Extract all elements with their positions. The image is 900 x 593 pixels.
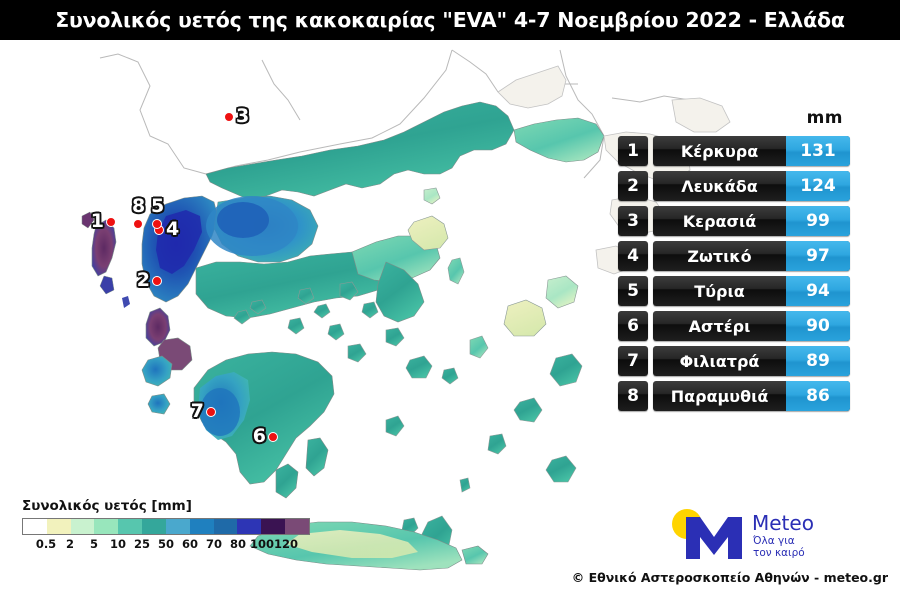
legend-tick: 60 <box>182 537 198 551</box>
title-bar: Συνολικός υετός της κακοκαιρίας "EVA" 4-… <box>0 0 900 40</box>
legend-swatch-1 <box>47 519 71 534</box>
rainfall-value: 94 <box>786 276 850 306</box>
rainfall-value: 90 <box>786 311 850 341</box>
legend-swatch-6 <box>166 519 190 534</box>
legend-swatch-7 <box>190 519 214 534</box>
rainfall-value: 86 <box>786 381 850 411</box>
rainfall-value: 99 <box>786 206 850 236</box>
meteo-m-letter-icon <box>684 515 744 559</box>
brand-name: Meteo <box>752 511 814 535</box>
ranking-row[interactable]: 1 Κέρκυρα 131 <box>618 136 850 166</box>
station-name: Τύρια <box>653 276 786 306</box>
station-marker-label: 1 <box>91 212 104 231</box>
greece-landmass <box>142 102 604 498</box>
ranking-rows: 1 Κέρκυρα 131 2 Λευκάδα 124 3 Κερασιά 99 <box>618 136 850 416</box>
station-dot-icon <box>152 276 162 286</box>
legend-swatch-5 <box>142 519 166 534</box>
legend-swatch-4 <box>118 519 142 534</box>
row-panel: Κέρκυρα 131 <box>653 136 850 166</box>
legend-tick: 5 <box>90 537 98 551</box>
ranking-row[interactable]: 2 Λευκάδα 124 <box>618 171 850 201</box>
legend-tick: 2 <box>66 537 74 551</box>
row-panel: Ζωτικό 97 <box>653 241 850 271</box>
station-dot-icon <box>106 217 116 227</box>
rank-badge: 6 <box>618 311 648 341</box>
rainfall-value: 89 <box>786 346 850 376</box>
station-dot-icon <box>206 407 216 417</box>
rainfall-value: 131 <box>786 136 850 166</box>
legend-swatch-3 <box>94 519 118 534</box>
colorbar-legend: Συνολικός υετός [mm] 0.52510255060708010… <box>22 498 312 553</box>
rainfall-value: 124 <box>786 171 850 201</box>
station-marker-label: 6 <box>253 427 266 446</box>
ranking-row[interactable]: 6 Αστέρι 90 <box>618 311 850 341</box>
station-name: Λευκάδα <box>653 171 786 201</box>
legend-tick: 100 <box>250 537 274 551</box>
row-panel: Αστέρι 90 <box>653 311 850 341</box>
station-dot-icon <box>152 219 162 229</box>
rank-badge: 4 <box>618 241 648 271</box>
station-marker-label: 5 <box>151 197 164 216</box>
legend-tick: 70 <box>206 537 222 551</box>
meteo-logo[interactable]: Meteo Όλα για τον καιρό <box>672 505 862 563</box>
ranking-row[interactable]: 4 Ζωτικό 97 <box>618 241 850 271</box>
legend-swatch-2 <box>71 519 95 534</box>
legend-swatch-11 <box>285 519 309 534</box>
tagline-line-1: Όλα για <box>753 535 805 547</box>
station-name: Κερασιά <box>653 206 786 236</box>
station-name: Παραμυθιά <box>653 381 786 411</box>
rank-badge: 3 <box>618 206 648 236</box>
brand-tagline: Όλα για τον καιρό <box>753 535 805 559</box>
station-marker-label: 2 <box>137 271 150 290</box>
row-panel: Κερασιά 99 <box>653 206 850 236</box>
ranking-row[interactable]: 3 Κερασιά 99 <box>618 206 850 236</box>
rank-badge: 8 <box>618 381 648 411</box>
legend-tick: 10 <box>110 537 126 551</box>
legend-colorbar <box>22 518 310 535</box>
ranking-row[interactable]: 5 Τύρια 94 <box>618 276 850 306</box>
rank-badge: 2 <box>618 171 648 201</box>
station-name: Ζωτικό <box>653 241 786 271</box>
legend-tick: 120 <box>274 537 298 551</box>
rainfall-value: 97 <box>786 241 850 271</box>
rank-badge: 7 <box>618 346 648 376</box>
legend-swatch-8 <box>214 519 238 534</box>
page-title: Συνολικός υετός της κακοκαιρίας "EVA" 4-… <box>0 0 900 40</box>
station-name: Φιλιατρά <box>653 346 786 376</box>
station-marker-label: 8 <box>132 197 145 216</box>
infographic-root: Συνολικός υετός της κακοκαιρίας "EVA" 4-… <box>0 0 900 593</box>
rank-badge: 5 <box>618 276 648 306</box>
row-panel: Φιλιατρά 89 <box>653 346 850 376</box>
tagline-line-2: τον καιρό <box>753 547 805 559</box>
legend-tick-labels: 0.525102550607080100120 <box>22 537 310 553</box>
station-dot-icon <box>133 219 143 229</box>
row-panel: Λευκάδα 124 <box>653 171 850 201</box>
legend-tick: 0.5 <box>36 537 56 551</box>
legend-swatch-10 <box>261 519 285 534</box>
rank-badge: 1 <box>618 136 648 166</box>
station-name: Αστέρι <box>653 311 786 341</box>
legend-tick: 80 <box>230 537 246 551</box>
station-name: Κέρκυρα <box>653 136 786 166</box>
legend-title: Συνολικός υετός [mm] <box>22 498 312 514</box>
row-panel: Τύρια 94 <box>653 276 850 306</box>
unit-header: mm <box>807 108 843 128</box>
copyright-notice: © Εθνικό Αστεροσκοπείο Αθηνών - meteo.gr <box>572 570 888 585</box>
legend-swatch-0 <box>23 519 47 534</box>
ranking-row[interactable]: 7 Φιλιατρά 89 <box>618 346 850 376</box>
station-dot-icon <box>224 112 234 122</box>
row-panel: Παραμυθιά 86 <box>653 381 850 411</box>
ranking-row[interactable]: 8 Παραμυθιά 86 <box>618 381 850 411</box>
legend-swatch-9 <box>237 519 261 534</box>
station-marker-label: 7 <box>191 402 204 421</box>
station-dot-icon <box>268 432 278 442</box>
legend-tick: 25 <box>134 537 150 551</box>
legend-tick: 50 <box>158 537 174 551</box>
station-marker-label: 4 <box>166 220 179 239</box>
station-marker-label: 3 <box>236 107 249 126</box>
